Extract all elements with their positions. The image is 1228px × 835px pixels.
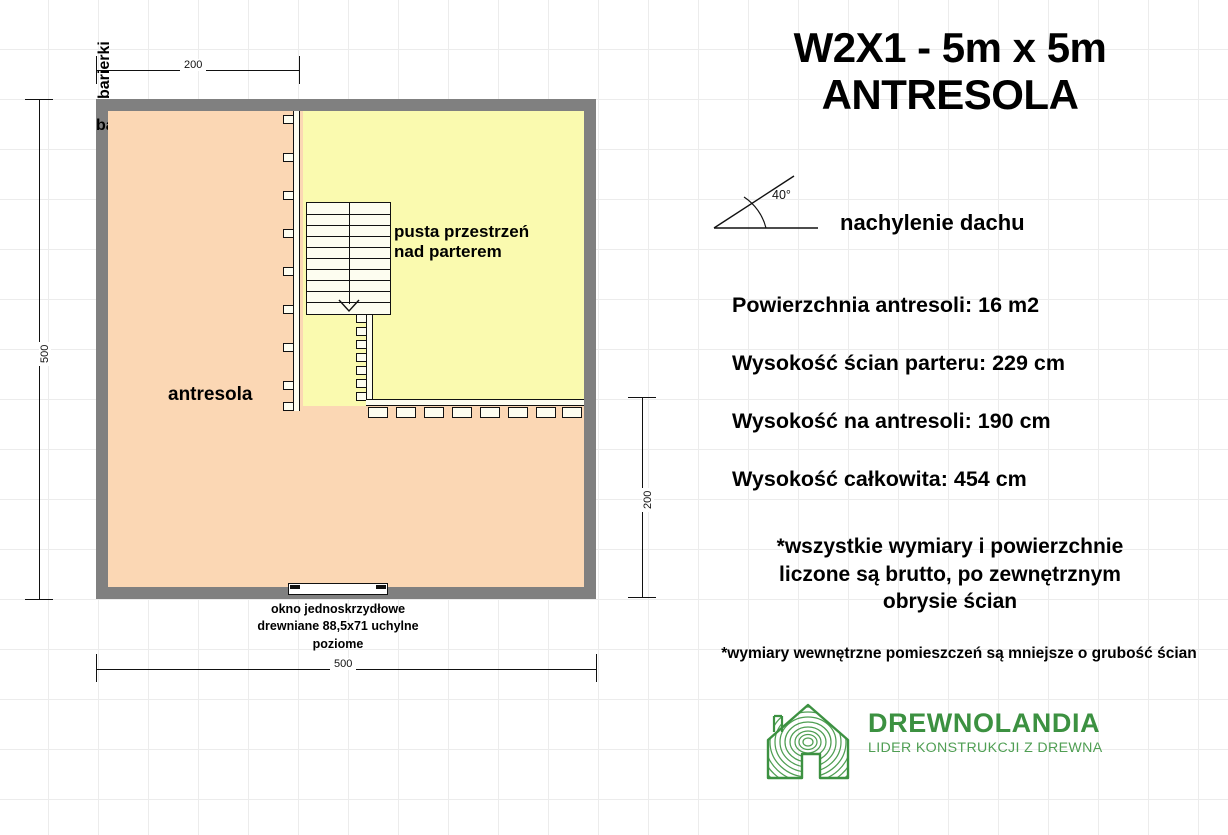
spec-mezzanine-area: Powierzchnia antresoli: 16 m2	[732, 293, 1039, 318]
dim-top-tick-right	[299, 56, 300, 84]
dim-bottom-tick-right	[596, 654, 597, 682]
title-line2: ANTRESOLA	[822, 71, 1079, 118]
note-line1: *wszystkie wymiary i powierzchnie	[777, 535, 1124, 558]
staircase	[306, 202, 391, 315]
label-open-space: pusta przestrzeń nad parterem	[394, 222, 529, 262]
dim-right-label: 200	[642, 488, 654, 512]
window-desc-line3: poziome	[313, 637, 364, 651]
page-title: W2X1 - 5m x 5m ANTRESOLA	[690, 24, 1210, 118]
company-logo: DREWNOLANDIA LIDER KONSTRUKCJI Z DREWNA	[762, 702, 1162, 782]
note-gross-dimensions: *wszystkie wymiary i powierzchnie liczon…	[700, 533, 1200, 616]
window-desc-line2: drewniane 88,5x71 uchylne	[257, 619, 418, 633]
spec-mezzanine-height: Wysokość na antresoli: 190 cm	[732, 409, 1051, 434]
label-antresola: antresola	[168, 384, 252, 406]
railing-vertical	[293, 111, 300, 411]
dim-left-label: 500	[39, 342, 51, 366]
note-interior-dimensions: *wymiary wewnętrzne pomieszczeń są mniej…	[690, 645, 1228, 663]
logo-tagline: LIDER KONSTRUKCJI Z DREWNA	[868, 741, 1103, 755]
railing-horizontal	[366, 399, 584, 406]
floor-plan: 200 500	[0, 0, 690, 835]
note-line2: liczone są brutto, po zewnętrznym	[779, 563, 1121, 586]
logo-text-block: DREWNOLANDIA LIDER KONSTRUKCJI Z DREWNA	[868, 710, 1103, 755]
window-description: okno jednoskrzydłowe drewniane 88,5x71 u…	[228, 601, 448, 653]
wood-house-logo-icon	[762, 702, 854, 780]
dim-bottom-tick-left	[96, 654, 97, 682]
label-open-space-line1: pusta przestrzeń	[394, 222, 529, 241]
dim-left-tick-bottom	[25, 599, 53, 600]
dim-bottom-label: 500	[330, 658, 356, 670]
note-line3: obrysie ścian	[883, 590, 1017, 613]
railing-vertical-lower	[366, 312, 373, 406]
title-line1: W2X1 - 5m x 5m	[794, 24, 1107, 71]
dim-right-tick-bottom	[628, 597, 656, 598]
roof-angle-diagram: 40°	[710, 172, 840, 234]
spec-total-height: Wysokość całkowita: 454 cm	[732, 467, 1027, 492]
spec-ground-wall-height: Wysokość ścian parteru: 229 cm	[732, 351, 1065, 376]
logo-company-name: DREWNOLANDIA	[868, 710, 1103, 737]
label-open-space-line2: nad parterem	[394, 242, 502, 261]
info-panel: W2X1 - 5m x 5m ANTRESOLA 40° nachylenie …	[690, 0, 1228, 835]
building-outline: antresola pusta przestrzeń nad parterem …	[96, 99, 596, 599]
roof-angle-value: 40°	[772, 188, 791, 202]
window-symbol	[288, 583, 388, 595]
stair-direction-arrow-icon	[337, 299, 361, 313]
window-desc-line1: okno jednoskrzydłowe	[271, 602, 405, 616]
stair-centerline	[349, 203, 350, 304]
label-railing-vertical: barierki	[96, 0, 114, 99]
roof-angle-label: nachylenie dachu	[840, 210, 1025, 236]
dim-top-label: 200	[180, 59, 206, 71]
